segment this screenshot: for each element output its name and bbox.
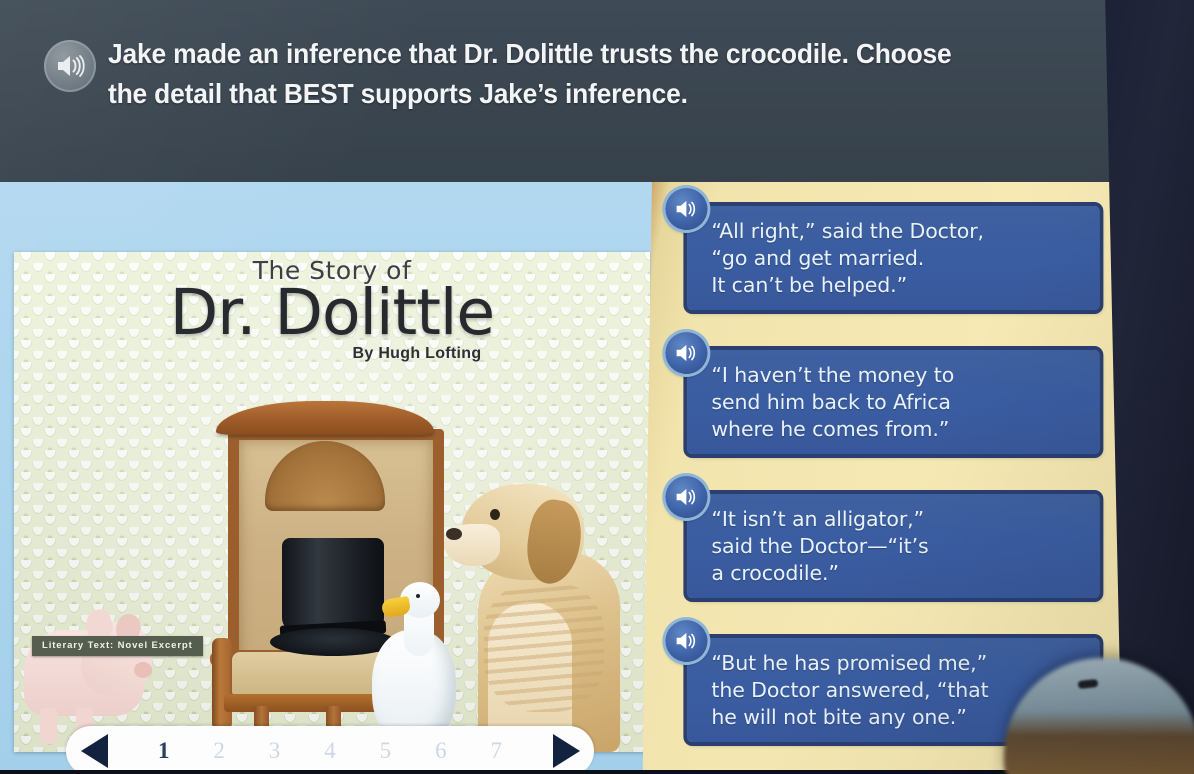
book-title: Dr. Dolittle [14,283,650,343]
page-number-5[interactable]: 5 [380,738,392,764]
page-number-7[interactable]: 7 [490,738,502,764]
page-navigation[interactable]: 1 2 3 4 5 6 7 [66,726,594,774]
question-header: Jake made an inference that Dr. Dolittle… [0,0,1160,182]
reading-panel: The Story of Dr. Dolittle By Hugh Loftin… [0,182,658,774]
prompt-line-2: the detail that BEST supports Jake’s inf… [108,74,1068,114]
answer-line: “go and get married. [711,245,984,272]
answer-text: “It isn’t an alligator,” said the Doctor… [687,506,938,587]
speaker-icon[interactable] [665,332,707,374]
answer-choice-1[interactable]: “All right,” said the Doctor, “go and ge… [657,188,1127,313]
speaker-icon[interactable] [665,188,707,230]
page-number-3[interactable]: 3 [269,738,281,764]
answer-line: “All right,” said the Doctor, [711,218,984,245]
book-title-block: The Story of Dr. Dolittle By Hugh Loftin… [14,256,650,363]
book-cover-image[interactable]: The Story of Dr. Dolittle By Hugh Loftin… [14,252,650,752]
answer-choice-3[interactable]: “It isn’t an alligator,” said the Doctor… [657,476,1127,601]
answer-line: send him back to Africa [711,389,954,416]
answer-box[interactable]: “I haven’t the money to send him back to… [687,350,1099,454]
page-number-2[interactable]: 2 [213,738,225,764]
dog-illustration [444,452,629,752]
previous-page-button[interactable] [66,726,122,774]
speaker-icon[interactable] [665,476,707,518]
speaker-icon[interactable] [44,40,96,92]
answer-box[interactable]: “All right,” said the Doctor, “go and ge… [687,206,1099,310]
answer-line: where he comes from.” [711,416,954,443]
answer-choice-2[interactable]: “I haven’t the money to send him back to… [657,332,1127,457]
answer-line: “It isn’t an alligator,” [711,506,928,533]
triangle-left-icon [81,734,108,768]
answer-text: “I haven’t the money to send him back to… [687,362,964,443]
prompt-line-1: Jake made an inference that Dr. Dolittle… [108,34,1068,74]
answer-line: he will not bite any one.” [711,704,988,731]
cover-illustration: Literary Text: Novel Excerpt [14,392,650,752]
speaker-icon[interactable] [665,620,707,662]
answer-line: “But he has promised me,” [711,650,988,677]
next-page-button[interactable] [538,726,594,774]
answer-line: It can’t be helped.” [711,272,984,299]
page-number-1[interactable]: 1 [158,738,170,764]
answer-text: “But he has promised me,” the Doctor ans… [687,650,998,731]
genre-badge: Literary Text: Novel Excerpt [32,636,203,656]
answer-text: “All right,” said the Doctor, “go and ge… [687,218,994,299]
answer-line: “I haven’t the money to [711,362,954,389]
page-number-6[interactable]: 6 [435,738,447,764]
answer-line: the Doctor answered, “that [711,677,988,704]
answer-line: said the Doctor—“it’s [711,533,928,560]
triangle-right-icon [553,734,580,768]
screenshot-root: Jake made an inference that Dr. Dolittle… [0,0,1194,774]
pig-illustration [24,594,154,744]
page-number-4[interactable]: 4 [324,738,336,764]
page-number-list[interactable]: 1 2 3 4 5 6 7 [122,738,538,764]
answer-line: a crocodile.” [711,560,928,587]
question-prompt: Jake made an inference that Dr. Dolittle… [108,34,1108,114]
answer-box[interactable]: “It isn’t an alligator,” said the Doctor… [687,494,1099,598]
